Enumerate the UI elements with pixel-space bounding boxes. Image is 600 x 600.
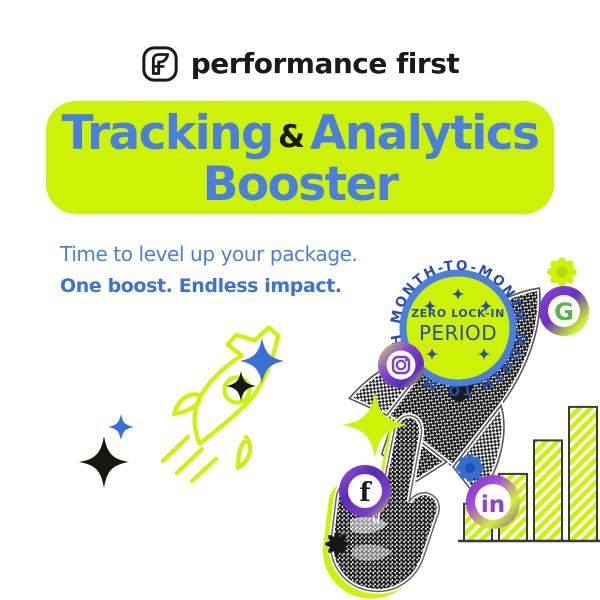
artwork-collage: MONTH-TO-MONTH MONTH-TO-MONTH ZERO LOCK-… — [0, 0, 600, 600]
sparkle-black-1 — [226, 371, 256, 401]
zero-lock-in-seal-badge: MONTH-TO-MONTH MONTH-TO-MONTH ZERO LOCK-… — [388, 258, 528, 399]
seal-center-line-2: PERIOD — [419, 321, 497, 345]
flower-lime — [547, 257, 577, 287]
google-g-icon: G — [554, 298, 574, 326]
headline-analytics: Analytics — [310, 110, 538, 157]
poster-canvas: performance first Tracking & Analytics B… — [0, 0, 600, 600]
headline-banner: Tracking & Analytics Booster — [46, 101, 554, 214]
flower-blue — [456, 454, 484, 482]
rocket-line-icon — [163, 327, 285, 481]
headline-tracking: Tracking — [62, 110, 273, 157]
linkedin-badge[interactable]: in — [466, 475, 520, 529]
bar-chart — [458, 407, 600, 541]
pointing-hand-halftone-image — [323, 416, 439, 599]
chart-bar — [464, 504, 492, 541]
instagram-badge[interactable] — [378, 342, 424, 388]
chart-bar — [499, 474, 527, 541]
facebook-badge[interactable]: f — [339, 465, 391, 517]
seal-ring-text-bottom: MONTH-TO-MONTH — [388, 331, 528, 398]
sparkle-lime-2 — [449, 354, 485, 390]
brand-wordmark: performance first — [191, 50, 460, 78]
chart-bar — [569, 407, 597, 541]
brand-logo: performance first — [0, 45, 600, 83]
leaf-f-monogram-icon — [141, 45, 179, 83]
seal-ring-text-top: MONTH-TO-MONTH — [388, 258, 528, 325]
instagram-icon — [393, 357, 409, 373]
google-badge[interactable]: G — [539, 286, 589, 336]
subhead-line-1: Time to level up your package. — [60, 242, 358, 266]
linkedin-in-icon: in — [481, 492, 505, 518]
sparkle-lime-1 — [342, 392, 408, 458]
headline-booster: Booster — [203, 161, 398, 208]
seal-center-line-1: ZERO LOCK-IN — [411, 307, 505, 320]
facebook-f-icon: f — [359, 478, 372, 508]
headline-line-1: Tracking & Analytics — [62, 110, 539, 157]
sparkle-blue-1 — [240, 338, 284, 383]
sparkle-black-2 — [79, 436, 129, 488]
headline-ampersand: & — [275, 122, 308, 153]
flower-black-asterisk — [325, 532, 349, 556]
rocket-halftone-image — [334, 238, 600, 519]
sparkle-blue-2 — [108, 414, 134, 440]
subhead-line-2: One boost. Endless impact. — [60, 275, 342, 297]
chart-bar — [534, 440, 562, 541]
